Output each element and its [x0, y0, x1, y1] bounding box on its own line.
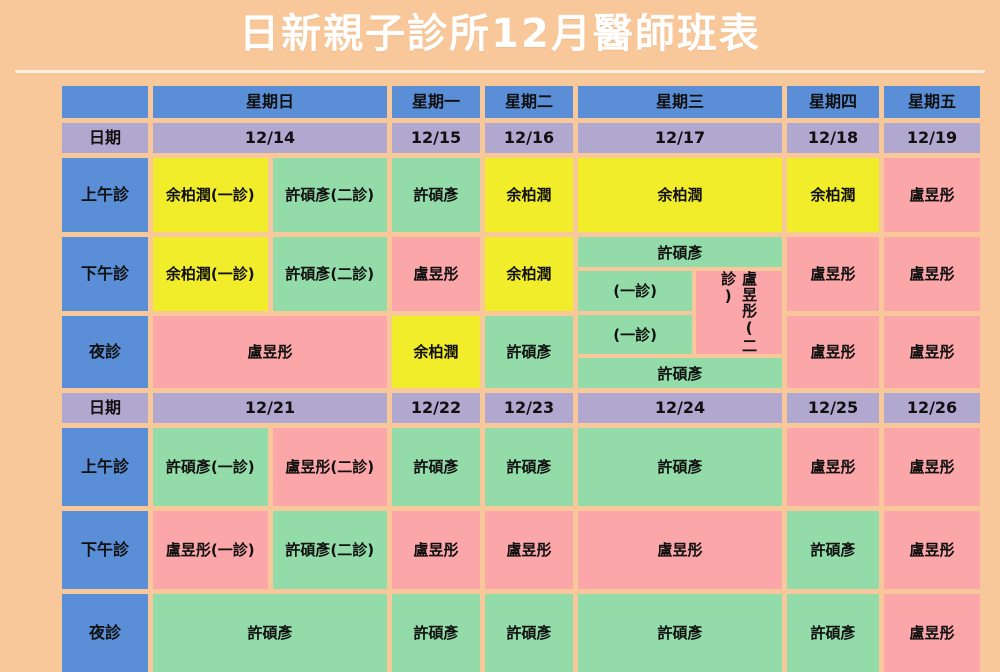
week2-date-1225: 12/25 — [787, 393, 879, 423]
week2-morning-monday[interactable]: 許碩彥 — [392, 428, 480, 506]
week1-date-1214: 12/14 — [153, 123, 387, 153]
week2-date-1223: 12/23 — [485, 393, 573, 423]
week2-night-tuesday[interactable]: 許碩彥 — [485, 594, 573, 672]
week1-morning-sunday-clinic1[interactable]: 余柏潤(一診) — [153, 158, 268, 232]
week1-night-friday[interactable]: 盧昱彤 — [884, 316, 980, 388]
week1-afternoon-night-block: 下午診 余柏潤(一診) 許碩彥(二診) 盧昱彤 余柏潤 許碩彥 (一診) (一診… — [62, 237, 980, 388]
week1-wed-composite-right-vertical[interactable]: 盧昱彤(二診) — [696, 271, 782, 354]
header-corner-cell — [62, 86, 148, 118]
header-day-thursday: 星期四 — [787, 86, 879, 118]
week2-afternoon-tuesday[interactable]: 盧昱彤 — [485, 511, 573, 589]
week2-afternoon-row: 下午診 盧昱彤(一診) 許碩彥(二診) 盧昱彤 盧昱彤 盧昱彤 許碩彥 盧昱彤 — [62, 511, 980, 589]
week2-date-1221: 12/21 — [153, 393, 387, 423]
week1-wed-composite-left-1[interactable]: (一診) — [578, 271, 692, 311]
week1-night-monday[interactable]: 余柏潤 — [392, 316, 480, 388]
header-day-friday: 星期五 — [884, 86, 980, 118]
label-night-week1: 夜診 — [62, 316, 148, 388]
label-morning-week1: 上午診 — [62, 158, 148, 232]
week2-date-1226: 12/26 — [884, 393, 980, 423]
week2-night-friday[interactable]: 盧昱彤 — [884, 594, 980, 672]
week1-morning-friday[interactable]: 盧昱彤 — [884, 158, 980, 232]
week1-afternoon-tuesday[interactable]: 余柏潤 — [485, 237, 573, 311]
week1-afternoon-sunday-clinic2[interactable]: 許碩彥(二診) — [273, 237, 388, 311]
header-day-wednesday: 星期三 — [578, 86, 782, 118]
week1-morning-monday[interactable]: 許碩彥 — [392, 158, 480, 232]
week2-morning-friday[interactable]: 盧昱彤 — [884, 428, 980, 506]
week2-morning-thursday[interactable]: 盧昱彤 — [787, 428, 879, 506]
week1-date-1216: 12/16 — [485, 123, 573, 153]
week2-morning-sunday-clinic1[interactable]: 許碩彥(一診) — [153, 428, 268, 506]
week1-afternoon-monday[interactable]: 盧昱彤 — [392, 237, 480, 311]
week2-afternoon-sunday-clinic2[interactable]: 許碩彥(二診) — [273, 511, 388, 589]
header-day-tuesday: 星期二 — [485, 86, 573, 118]
week1-night-thursday[interactable]: 盧昱彤 — [787, 316, 879, 388]
week1-morning-thursday[interactable]: 余柏潤 — [787, 158, 879, 232]
label-afternoon-week1: 下午診 — [62, 237, 148, 311]
title-area: 日新親子診所12月醫師班表 — [0, 0, 1000, 73]
week1-morning-wednesday[interactable]: 余柏潤 — [578, 158, 782, 232]
week2-night-monday[interactable]: 許碩彥 — [392, 594, 480, 672]
week1-wed-composite-top[interactable]: 許碩彥 — [578, 237, 782, 267]
week1-date-1217: 12/17 — [578, 123, 782, 153]
week1-date-1219: 12/19 — [884, 123, 980, 153]
week2-afternoon-wednesday[interactable]: 盧昱彤 — [578, 511, 782, 589]
header-day-monday: 星期一 — [392, 86, 480, 118]
label-night-week2: 夜診 — [62, 594, 148, 672]
week1-morning-row: 上午診 余柏潤(一診) 許碩彥(二診) 許碩彥 余柏潤 余柏潤 余柏潤 盧昱彤 — [62, 158, 980, 232]
week2-night-thursday[interactable]: 許碩彥 — [787, 594, 879, 672]
week1-night-sunday[interactable]: 盧昱彤 — [153, 316, 387, 388]
weekday-header-row: 星期日 星期一 星期二 星期三 星期四 星期五 — [62, 86, 980, 118]
label-morning-week2: 上午診 — [62, 428, 148, 506]
week2-morning-row: 上午診 許碩彥(一診) 盧昱彤(二診) 許碩彥 許碩彥 許碩彥 盧昱彤 盧昱彤 — [62, 428, 980, 506]
label-date-week2: 日期 — [62, 393, 148, 423]
week1-morning-tuesday[interactable]: 余柏潤 — [485, 158, 573, 232]
schedule-table: 星期日 星期一 星期二 星期三 星期四 星期五 日期 12/14 12/15 1… — [62, 86, 980, 672]
week2-morning-sunday-clinic2[interactable]: 盧昱彤(二診) — [273, 428, 388, 506]
week1-wed-composite-left-2[interactable]: (一診) — [578, 315, 692, 355]
week1-morning-sunday-clinic2[interactable]: 許碩彥(二診) — [273, 158, 388, 232]
week1-wednesday-composite: 許碩彥 (一診) (一診) 盧昱彤(二診) 許碩彥 — [578, 237, 782, 388]
week2-afternoon-thursday[interactable]: 許碩彥 — [787, 511, 879, 589]
schedule-page: 日新親子診所12月醫師班表 星期日 星期一 星期二 星期三 星期四 星期五 日期… — [0, 0, 1000, 648]
week2-morning-wednesday[interactable]: 許碩彥 — [578, 428, 782, 506]
header-day-sunday: 星期日 — [153, 86, 387, 118]
week1-night-tuesday[interactable]: 許碩彥 — [485, 316, 573, 388]
week2-morning-tuesday[interactable]: 許碩彥 — [485, 428, 573, 506]
week1-afternoon-thursday[interactable]: 盧昱彤 — [787, 237, 879, 311]
week1-date-1215: 12/15 — [392, 123, 480, 153]
week2-date-1222: 12/22 — [392, 393, 480, 423]
week1-wed-composite-bottom[interactable]: 許碩彥 — [578, 358, 782, 388]
week1-afternoon-friday[interactable]: 盧昱彤 — [884, 237, 980, 311]
week2-date-1224: 12/24 — [578, 393, 782, 423]
week2-night-wednesday[interactable]: 許碩彥 — [578, 594, 782, 672]
week2-night-sunday[interactable]: 許碩彥 — [153, 594, 387, 672]
page-title: 日新親子診所12月醫師班表 — [0, 6, 1000, 62]
title-divider — [15, 70, 985, 73]
week2-night-row: 夜診 許碩彥 許碩彥 許碩彥 許碩彥 許碩彥 盧昱彤 — [62, 594, 980, 672]
label-afternoon-week2: 下午診 — [62, 511, 148, 589]
week2-afternoon-monday[interactable]: 盧昱彤 — [392, 511, 480, 589]
week2-afternoon-sunday-clinic1[interactable]: 盧昱彤(一診) — [153, 511, 268, 589]
week1-afternoon-sunday-clinic1[interactable]: 余柏潤(一診) — [153, 237, 268, 311]
week1-date-1218: 12/18 — [787, 123, 879, 153]
week2-date-row: 日期 12/21 12/22 12/23 12/24 12/25 12/26 — [62, 393, 980, 423]
week2-afternoon-friday[interactable]: 盧昱彤 — [884, 511, 980, 589]
week1-date-row: 日期 12/14 12/15 12/16 12/17 12/18 12/19 — [62, 123, 980, 153]
label-date-week1: 日期 — [62, 123, 148, 153]
